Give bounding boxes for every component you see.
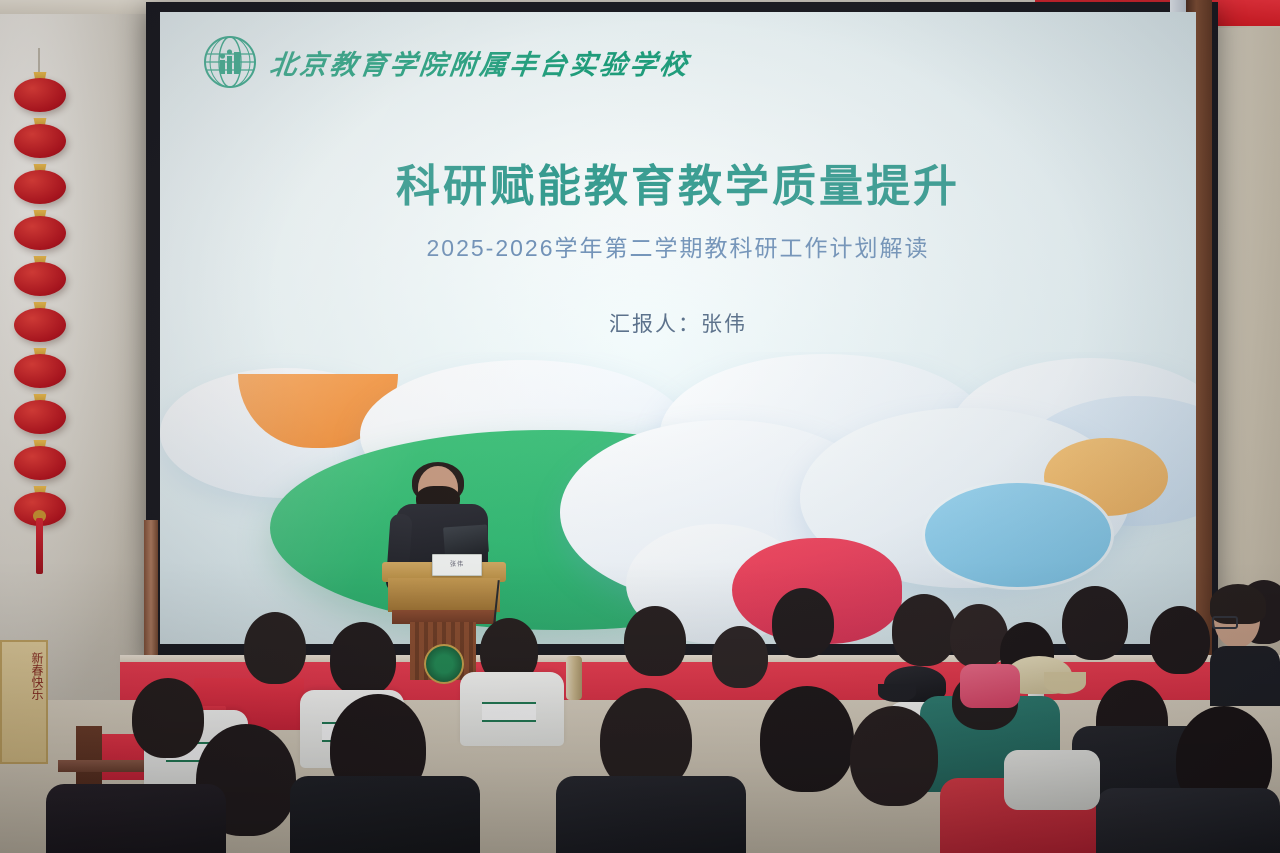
black-coat-4: [1096, 788, 1280, 853]
lantern-2: [14, 124, 66, 158]
black-coat-1: [290, 776, 480, 853]
lantern-6: [14, 308, 66, 342]
slide-subtitle: 2025-2026学年第二学期教科研工作计划解读: [160, 229, 1196, 263]
audience-seating: [0, 560, 1280, 853]
cap-brim-cream: [1044, 672, 1086, 694]
lantern-3: [14, 170, 66, 204]
audience-head-b6: [330, 622, 396, 696]
audience-head-b3: [1062, 586, 1128, 660]
audience-head-b10: [712, 626, 768, 688]
globe-school-emblem-icon: [202, 34, 258, 90]
audience-person-glasses: [1210, 572, 1280, 692]
audience-head-f3: [760, 686, 854, 792]
school-name-text: 北京教育学院附属丰台实验学校: [268, 43, 693, 82]
white-fur-collar: [1004, 750, 1100, 810]
audience-head-b1: [772, 588, 834, 658]
slide-title: 科研赋能教育教学质量提升: [160, 162, 1196, 213]
red-lantern-string: [8, 48, 72, 548]
thermos-bottle-1: [566, 656, 582, 700]
chair-label-1: [482, 702, 536, 722]
black-coat-2: [556, 776, 746, 853]
audience-head-m1: [132, 678, 204, 758]
lantern-1: [14, 78, 66, 112]
audience-head-b5: [244, 612, 306, 684]
presentation-slide: 北京教育学院附属丰台实验学校 科研赋能教育教学质量提升 2025-2026学年第…: [160, 12, 1196, 644]
auditorium-photo: 北京教育学院附属丰台实验学校 科研赋能教育教学质量提升 2025-2026学年第…: [0, 0, 1280, 853]
pink-garment: [960, 664, 1020, 708]
audience-head-b9: [1150, 606, 1210, 674]
presenter-line: 汇报人：张伟: [160, 308, 1196, 338]
black-coat-3: [46, 784, 226, 853]
lantern-5: [14, 262, 66, 296]
lantern-8: [14, 400, 66, 434]
audience-head-f4: [850, 706, 938, 806]
lantern-9: [14, 446, 66, 480]
slide-title-block: 科研赋能教育教学质量提升 2025-2026学年第二学期教科研工作计划解读: [160, 162, 1196, 263]
laptop: [443, 524, 489, 555]
audience-head-b4: [624, 606, 686, 676]
audience-head-b2: [892, 594, 956, 666]
cap-brim-black: [878, 684, 916, 702]
lantern-4: [14, 216, 66, 250]
lantern-7: [14, 354, 66, 388]
school-logo: 北京教育学院附属丰台实验学校: [202, 34, 690, 90]
